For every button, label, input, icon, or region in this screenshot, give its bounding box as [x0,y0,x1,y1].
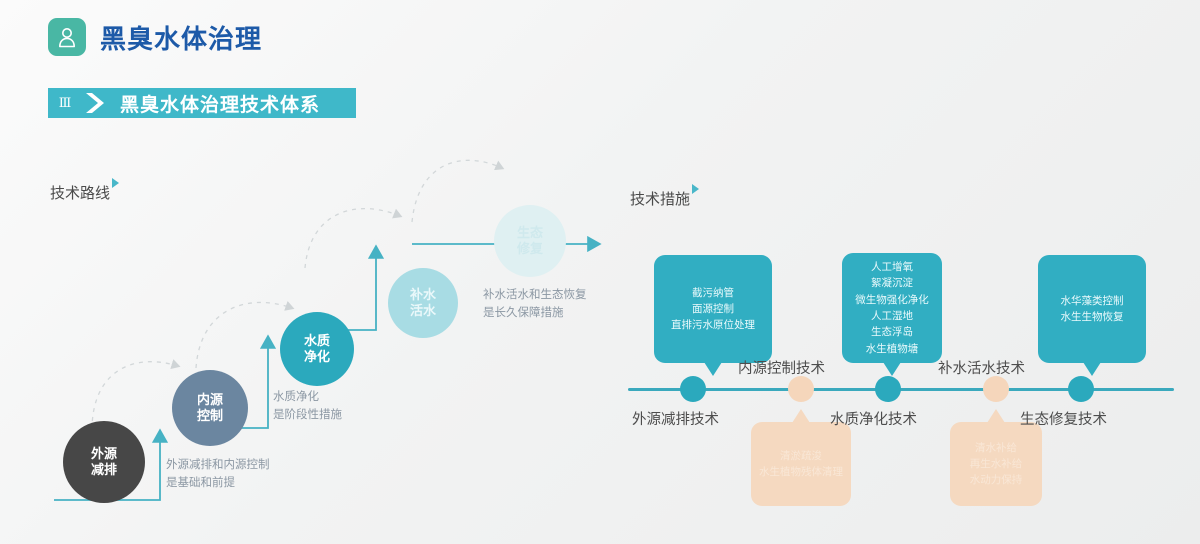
measure-dot-2[interactable] [875,376,901,402]
page-title: 黑臭水体治理 [100,19,262,56]
measure-dot-4[interactable] [1068,376,1094,402]
measure-callout-0[interactable]: 截污纳管 面源控制 直排污水原位处理 [654,255,772,363]
measure-callout-1[interactable]: 清淤疏浚 水生植物残体清理 [751,422,851,506]
measure-callout-4-text: 水华藻类控制 水生生物恢复 [1053,293,1132,326]
section-banner: Ⅲ 黑臭水体治理技术体系 [48,88,356,118]
measure-callout-1-text: 清淤疏浚 水生植物残体清理 [751,448,851,481]
measure-callout-2-text: 人工增氧 絮凝沉淀 微生物强化净化 人工湿地 生态浮岛 水生植物塘 [847,259,937,357]
route-node-3[interactable]: 补水 活水 [388,268,458,338]
measure-dot-3[interactable] [983,376,1009,402]
technical-measures-diagram: 截污纳管 面源控制 直排污水原位处理 清淤疏浚 水生植物残体清理 人工增氧 絮凝… [620,150,1200,544]
measure-callout-4[interactable]: 水华藻类控制 水生生物恢复 [1038,255,1146,363]
measure-callout-2[interactable]: 人工增氧 絮凝沉淀 微生物强化净化 人工湿地 生态浮岛 水生植物塘 [842,253,942,363]
measure-dot-1[interactable] [788,376,814,402]
measure-callout-0-text: 截污纳管 面源控制 直排污水原位处理 [663,285,763,334]
route-caption-1: 水质净化 是阶段性措施 [273,389,342,425]
person-icon [48,18,86,56]
page-title-row: 黑臭水体治理 [48,18,262,56]
section-numeral: Ⅲ [48,95,82,111]
route-node-0[interactable]: 外源 减排 [63,421,145,503]
chevron-right-icon [82,88,108,118]
measure-axis-label-0: 外源减排技术 [632,408,719,429]
measure-axis-label-2: 水质净化技术 [830,408,917,429]
measure-axis-label-3: 补水活水技术 [938,357,1025,378]
measure-callout-3-text: 清水补给 再生水补给 水动力保持 [962,440,1031,489]
route-node-2[interactable]: 水质 净化 [280,312,354,386]
route-node-4[interactable]: 生态 修复 [494,205,566,277]
technical-route-diagram: 外源 减排 内源 控制 水质 净化 补水 活水 生态 修复 [0,140,620,544]
section-banner-title: 黑臭水体治理技术体系 [120,90,320,117]
callout-tail [987,409,1005,423]
callout-tail [883,362,901,376]
callout-tail [1083,362,1101,376]
route-node-1[interactable]: 内源 控制 [172,370,248,446]
measure-axis-label-4: 生态修复技术 [1020,408,1107,429]
callout-tail [792,409,810,423]
measure-dot-0[interactable] [680,376,706,402]
route-caption-2: 补水活水和生态恢复 是长久保障措施 [483,287,587,323]
measure-callout-3[interactable]: 清水补给 再生水补给 水动力保持 [950,422,1042,506]
callout-tail [704,362,722,376]
measure-axis-label-1: 内源控制技术 [738,357,825,378]
route-caption-0: 外源减排和内源控制 是基础和前提 [166,457,270,493]
slide-canvas: 黑臭水体治理 Ⅲ 黑臭水体治理技术体系 技术路线 技术措施 [0,0,1200,544]
